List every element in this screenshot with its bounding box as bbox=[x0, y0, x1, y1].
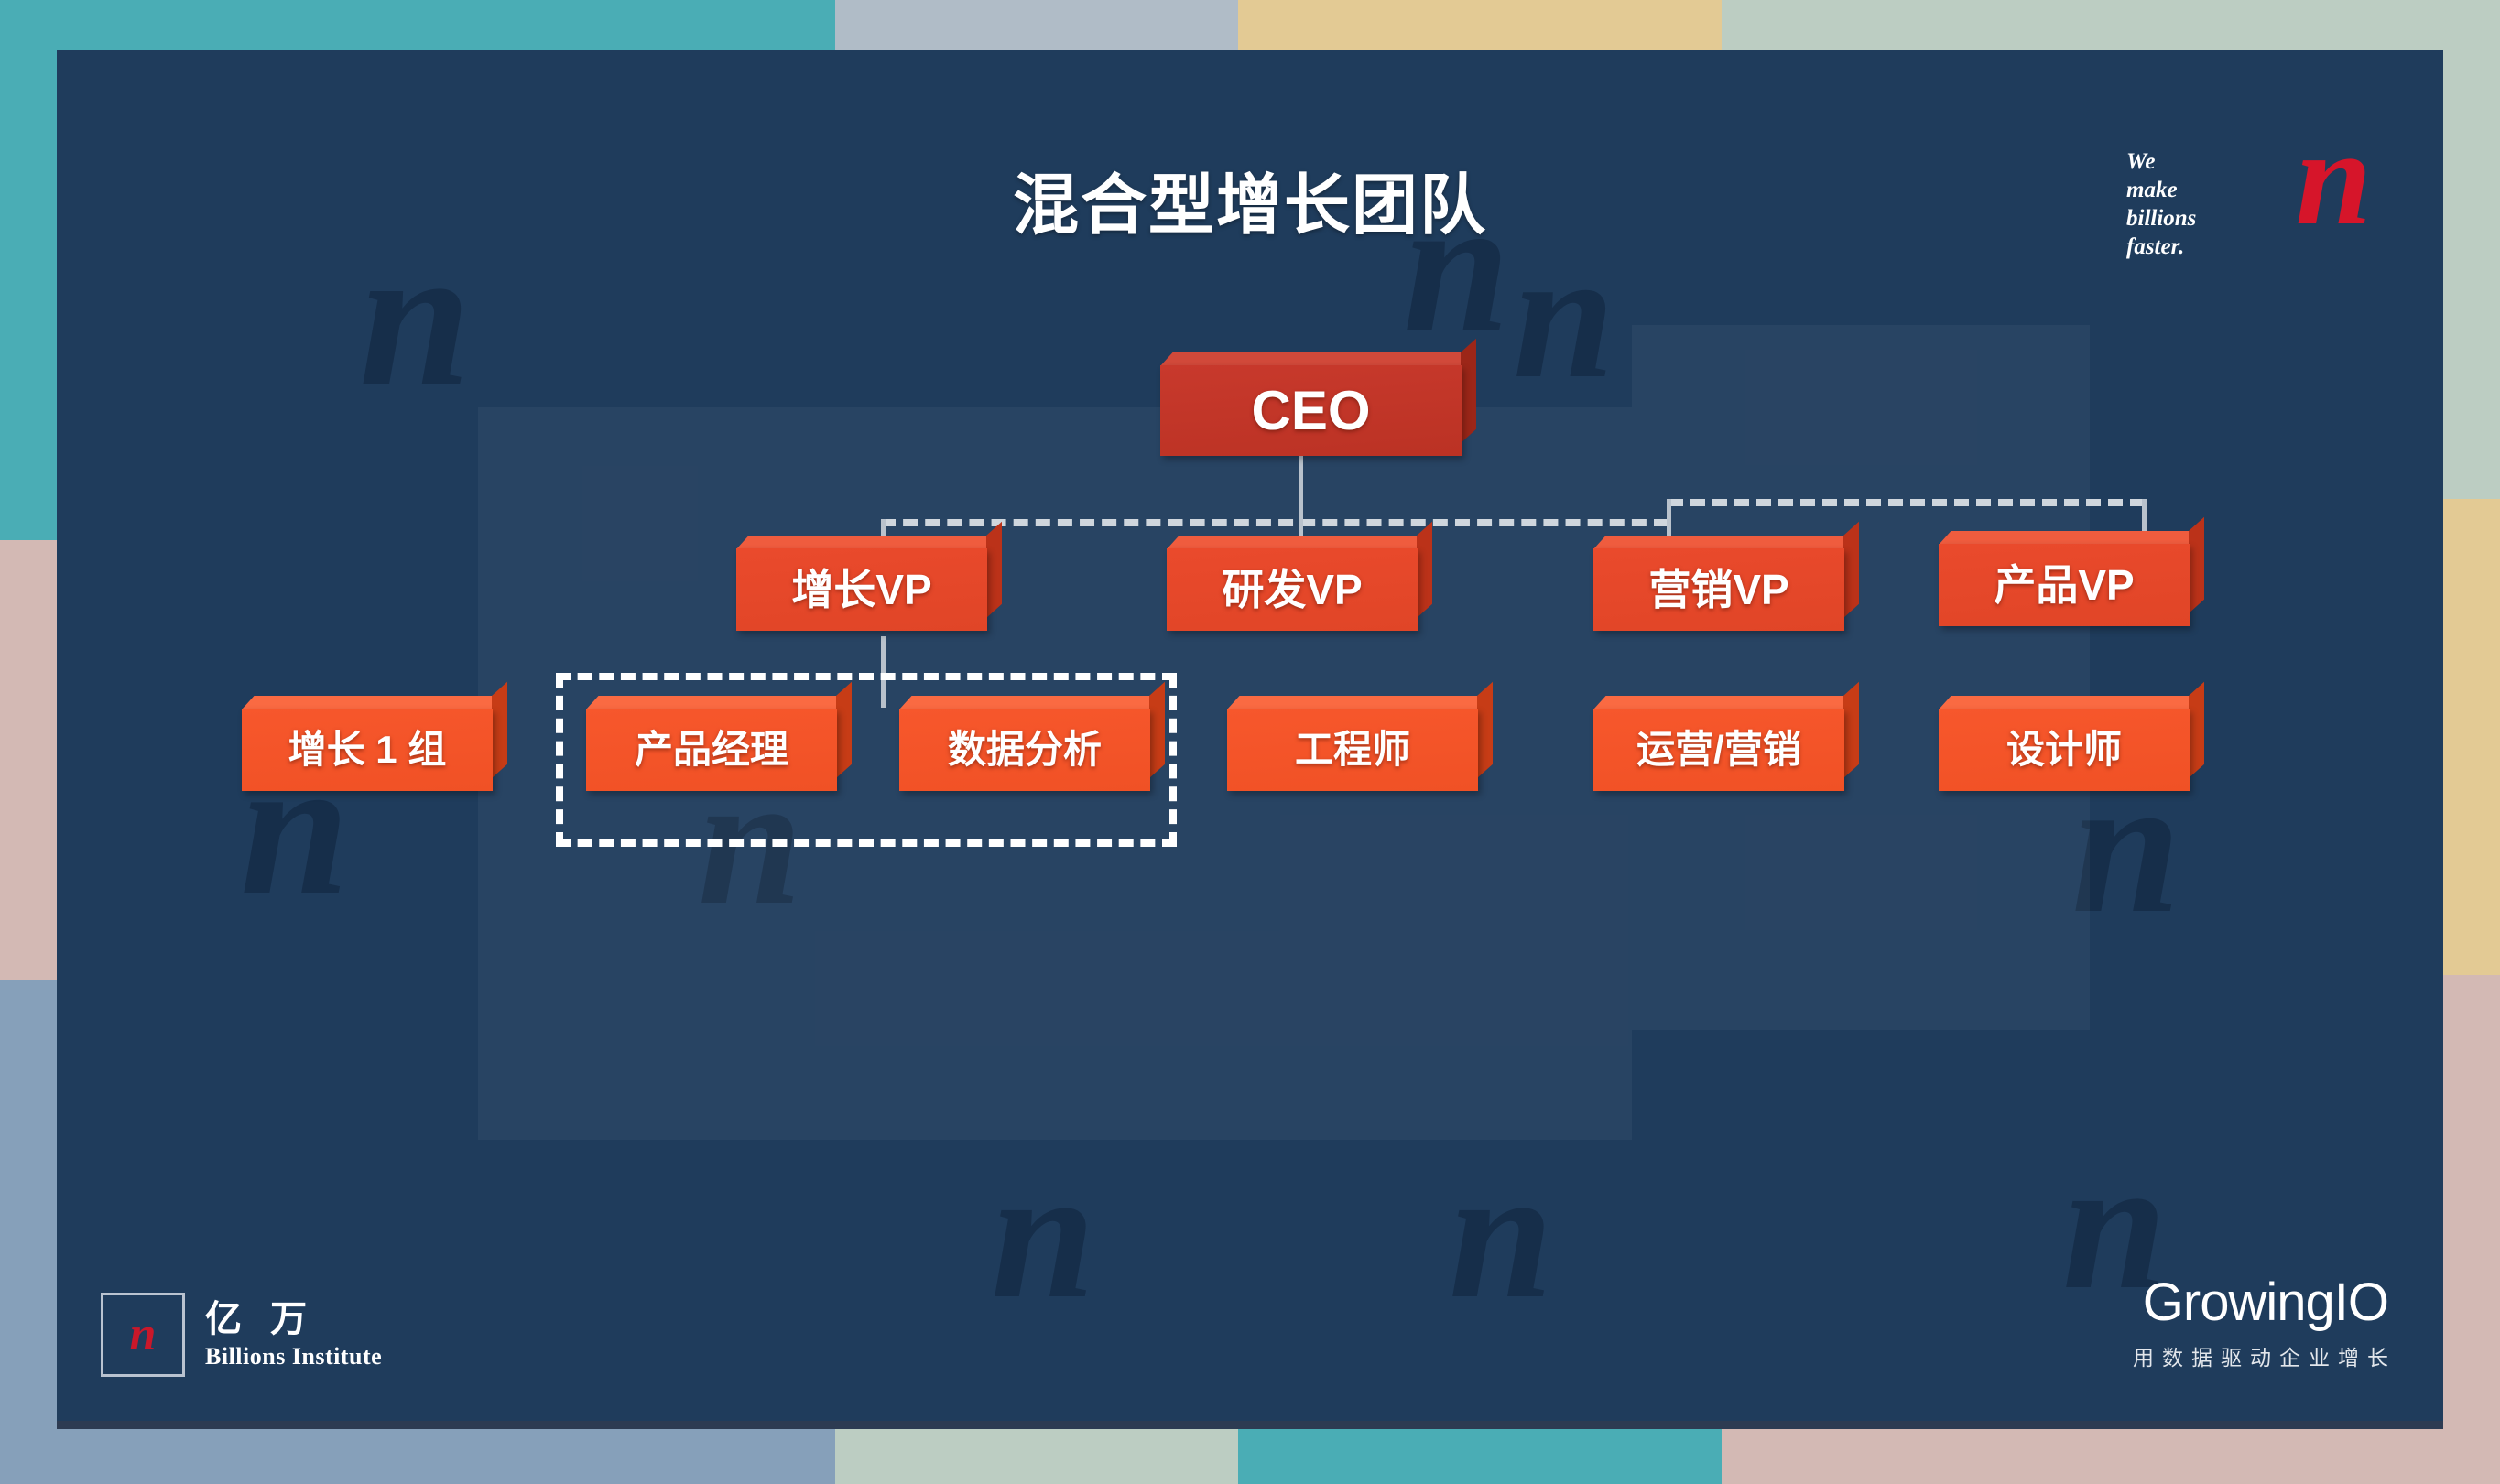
brand-monogram-n-icon: n bbox=[2296, 109, 2372, 246]
brand-tagline-line-1: We bbox=[2126, 147, 2236, 176]
brand-tagline-line-4: faster. bbox=[2126, 233, 2236, 261]
node-bevel-side bbox=[1461, 339, 1476, 443]
org-node-label: 运营/营销 bbox=[1593, 709, 1844, 791]
org-node-vp-marketing[interactable]: 营销VP bbox=[1593, 536, 1859, 631]
node-bevel-side bbox=[2189, 682, 2204, 778]
node-bevel-top bbox=[1593, 536, 1857, 549]
node-bevel-side bbox=[986, 522, 1002, 618]
institute-logo: n 亿 万 Billions Institute bbox=[101, 1293, 382, 1377]
org-node-growth-team-1[interactable]: 增长 1 组 bbox=[242, 696, 507, 791]
node-bevel-top bbox=[242, 696, 505, 710]
edge-block-right-pink bbox=[2443, 975, 2500, 1484]
brand-tagline-line-2: make bbox=[2126, 176, 2236, 204]
node-bevel-top bbox=[1160, 352, 1474, 366]
edge-block-right-tan bbox=[2443, 499, 2500, 975]
edge-block-bottom-steel bbox=[0, 1429, 835, 1484]
edge-block-right-sage bbox=[2443, 0, 2500, 499]
org-node-label: 研发VP bbox=[1167, 548, 1418, 631]
edge-block-left-teal bbox=[0, 0, 57, 540]
org-node-label: CEO bbox=[1160, 365, 1462, 456]
vendor-slogan: 用数据驱动企业增长 bbox=[2133, 1340, 2397, 1371]
slide-body: n n n n n n n n n 混合型增长团队 We make billio… bbox=[57, 50, 2443, 1421]
org-node-label: 增长 1 组 bbox=[242, 709, 493, 791]
edge-block-left-steel bbox=[0, 980, 57, 1484]
institute-monogram-n-icon: n bbox=[130, 1311, 157, 1359]
org-node-ceo[interactable]: CEO bbox=[1160, 352, 1476, 456]
vendor-logo: GrowingIO 用数据驱动企业增长 bbox=[2133, 1276, 2388, 1371]
edge-block-top-tan bbox=[1238, 0, 1722, 55]
institute-name-cn: 亿 万 bbox=[205, 1299, 382, 1339]
edge-block-bottom-sage bbox=[835, 1429, 1238, 1484]
institute-wordmark: 亿 万 Billions Institute bbox=[205, 1299, 382, 1370]
billions-brand-mark: We make billions faster. n bbox=[2126, 122, 2374, 268]
node-bevel-top bbox=[1939, 696, 2202, 710]
org-node-label: 设计师 bbox=[1939, 709, 2190, 791]
edge-block-bottom-teal bbox=[1238, 1429, 1722, 1484]
org-node-vp-rd[interactable]: 研发VP bbox=[1167, 536, 1432, 631]
node-bevel-side bbox=[1417, 522, 1432, 618]
node-bevel-top bbox=[1939, 531, 2202, 545]
edge-block-left-pink bbox=[0, 540, 57, 980]
brand-tagline-line-3: billions bbox=[2126, 204, 2236, 233]
node-bevel-top bbox=[1593, 696, 1857, 710]
org-node-vp-product[interactable]: 产品VP bbox=[1939, 531, 2204, 626]
node-bevel-top bbox=[1167, 536, 1430, 549]
vendor-brand-name: GrowingIO bbox=[2133, 1276, 2388, 1329]
org-node-ops-marketing[interactable]: 运营/营销 bbox=[1593, 696, 1859, 791]
institute-name-en: Billions Institute bbox=[205, 1343, 382, 1370]
institute-monogram-box: n bbox=[101, 1293, 185, 1377]
edge-block-top-teal bbox=[0, 0, 835, 55]
node-bevel-side bbox=[1477, 682, 1493, 778]
node-bevel-side bbox=[492, 682, 507, 778]
connector-ceo-stem bbox=[1299, 453, 1303, 519]
slide-canvas: n n n n n n n n n 混合型增长团队 We make billio… bbox=[0, 0, 2500, 1484]
brand-tagline: We make billions faster. bbox=[2126, 147, 2236, 261]
edge-block-bottom-pink bbox=[1722, 1429, 2500, 1484]
org-node-engineer[interactable]: 工程师 bbox=[1227, 696, 1493, 791]
org-node-label: 营销VP bbox=[1593, 548, 1844, 631]
org-node-designer[interactable]: 设计师 bbox=[1939, 696, 2204, 791]
connector-bus-right bbox=[1668, 499, 2145, 506]
node-bevel-top bbox=[1227, 696, 1491, 710]
edge-block-top-grayblue bbox=[835, 0, 1238, 55]
page-title: 混合型增长团队 bbox=[57, 151, 2443, 247]
highlight-group-box bbox=[556, 673, 1177, 847]
org-node-label: 工程师 bbox=[1227, 709, 1478, 791]
node-bevel-top bbox=[736, 536, 1000, 549]
org-node-label: 增长VP bbox=[736, 548, 987, 631]
org-node-label: 产品VP bbox=[1939, 544, 2190, 626]
org-chart: CEO 增长VP 研发VP 营销VP 产品VP bbox=[57, 50, 2443, 1421]
node-bevel-side bbox=[1843, 682, 1859, 778]
edge-block-top-sage bbox=[1722, 0, 2500, 55]
node-bevel-side bbox=[1843, 522, 1859, 618]
node-bevel-side bbox=[2189, 517, 2204, 613]
org-node-vp-growth[interactable]: 增长VP bbox=[736, 536, 1002, 631]
